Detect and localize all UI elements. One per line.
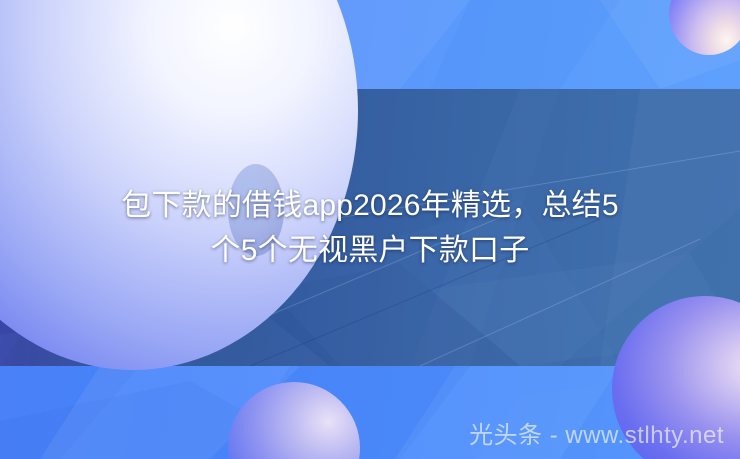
headline-text: 包下款的借钱app2026年精选，总结5 个5个无视黑户下款口子	[0, 183, 740, 273]
top-facet-svg	[0, 0, 740, 89]
top-band-facets	[0, 0, 740, 89]
promo-banner: 包下款的借钱app2026年精选，总结5 个5个无视黑户下款口子 光头条 - w…	[0, 0, 740, 459]
watermark-text: 光头条 - www.stlhty.net	[469, 415, 724, 450]
